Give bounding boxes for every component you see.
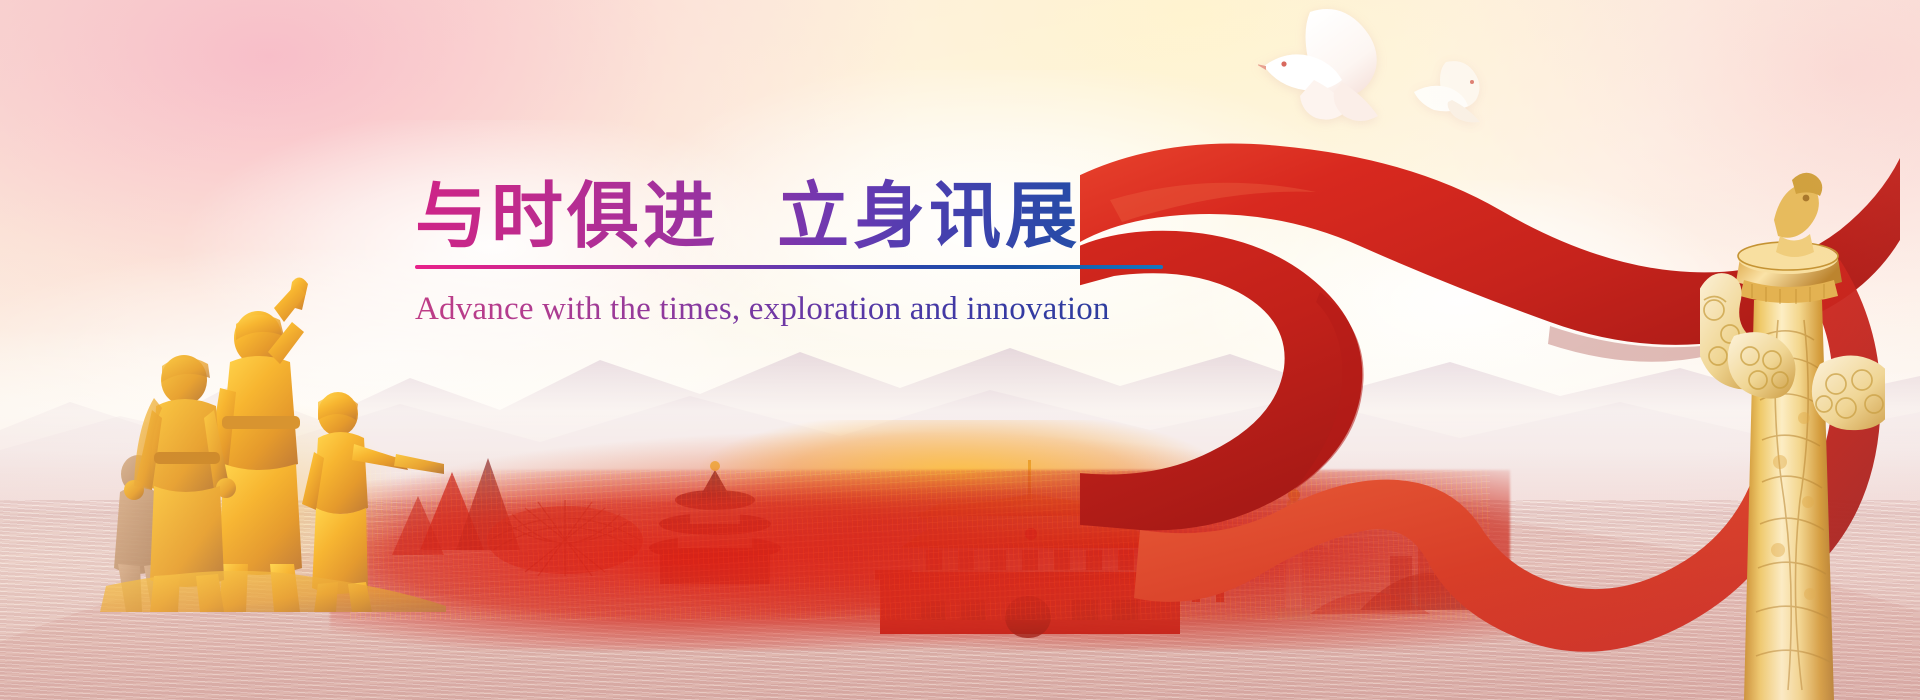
title-divider bbox=[415, 265, 1163, 269]
huabiao-column bbox=[1700, 150, 1885, 700]
statue-group bbox=[96, 268, 456, 612]
banner-title: 与时俱进 立身讯展 bbox=[415, 176, 1175, 257]
hero-banner: 与时俱进 立身讯展 Advance with the times, explor… bbox=[0, 0, 1920, 700]
banner-subtitle: Advance with the times, exploration and … bbox=[415, 291, 1175, 328]
banner-text-block: 与时俱进 立身讯展 Advance with the times, explor… bbox=[415, 176, 1175, 328]
